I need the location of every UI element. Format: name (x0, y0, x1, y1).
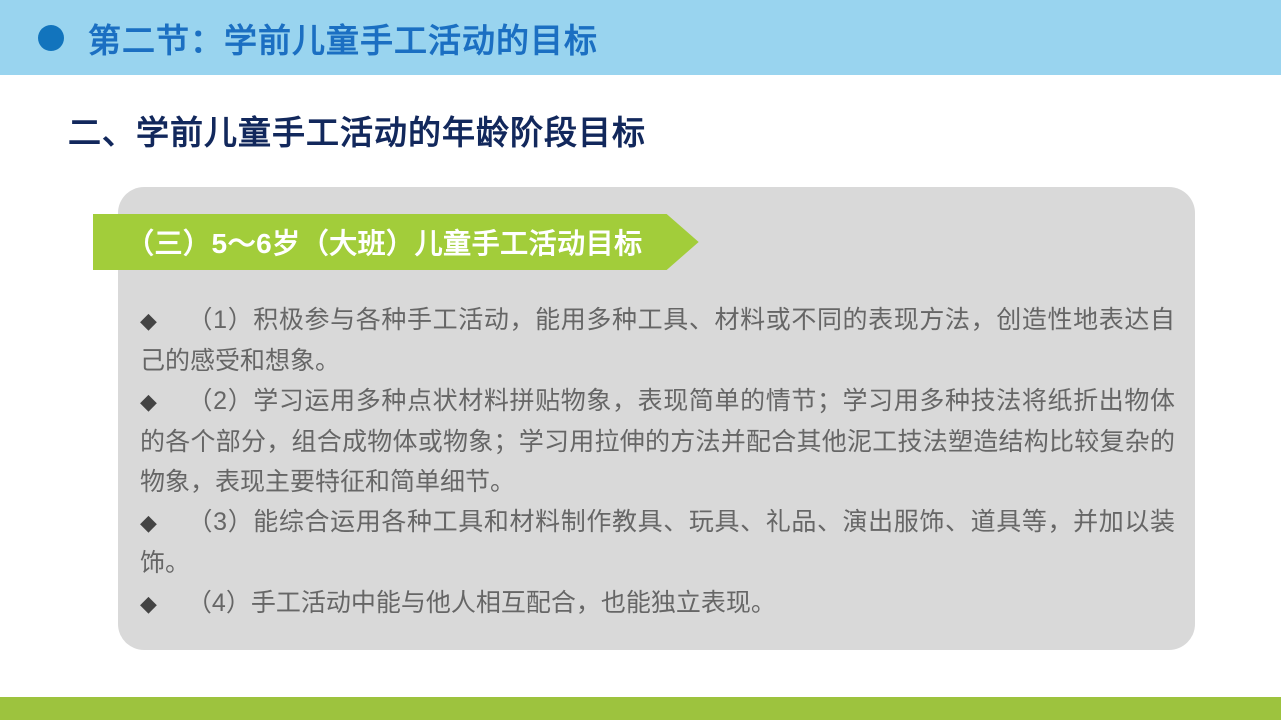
list-item-text: （2）学习运用多种点状材料拼贴物象，表现简单的情节；学习用多种技法将纸折出物体的… (140, 387, 1175, 496)
subsection-banner: （三）5～6岁（大班）儿童手工活动目标 (93, 214, 699, 270)
list-item-text: （4）手工活动中能与他人相互配合，也能独立表现。 (187, 589, 776, 617)
list-item-text: （3）能综合运用各种工具和材料制作教具、玩具、礼品、演出服饰、道具等，并加以装饰… (140, 508, 1175, 577)
diamond-bullet-icon: ◆ (140, 591, 157, 616)
list-item: ◆（2）学习运用多种点状材料拼贴物象，表现简单的情节；学习用多种技法将纸折出物体… (140, 381, 1175, 502)
goal-list: ◆（1）积极参与各种手工活动，能用多种工具、材料或不同的表现方法，创造性地表达自… (140, 300, 1175, 624)
diamond-bullet-icon: ◆ (140, 389, 158, 414)
diamond-bullet-icon: ◆ (140, 308, 158, 333)
subsection-banner-label: （三）5～6岁（大班）儿童手工活动目标 (126, 222, 643, 262)
slide-footer-bar (0, 697, 1281, 720)
list-item-text: （1）积极参与各种手工活动，能用多种工具、材料或不同的表现方法，创造性地表达自己… (140, 306, 1175, 375)
page-title: 二、学前儿童手工活动的年龄阶段目标 (68, 106, 646, 154)
list-item: ◆（4）手工活动中能与他人相互配合，也能独立表现。 (140, 583, 1175, 624)
diamond-bullet-icon: ◆ (140, 510, 158, 535)
list-item: ◆（1）积极参与各种手工活动，能用多种工具、材料或不同的表现方法，创造性地表达自… (140, 300, 1175, 381)
filled-circle-icon (38, 25, 64, 51)
slide-header-bar: 第二节：学前儿童手工活动的目标 (0, 0, 1281, 75)
slide-header-title: 第二节：学前儿童手工活动的目标 (88, 14, 598, 62)
list-item: ◆（3）能综合运用各种工具和材料制作教具、玩具、礼品、演出服饰、道具等，并加以装… (140, 502, 1175, 583)
